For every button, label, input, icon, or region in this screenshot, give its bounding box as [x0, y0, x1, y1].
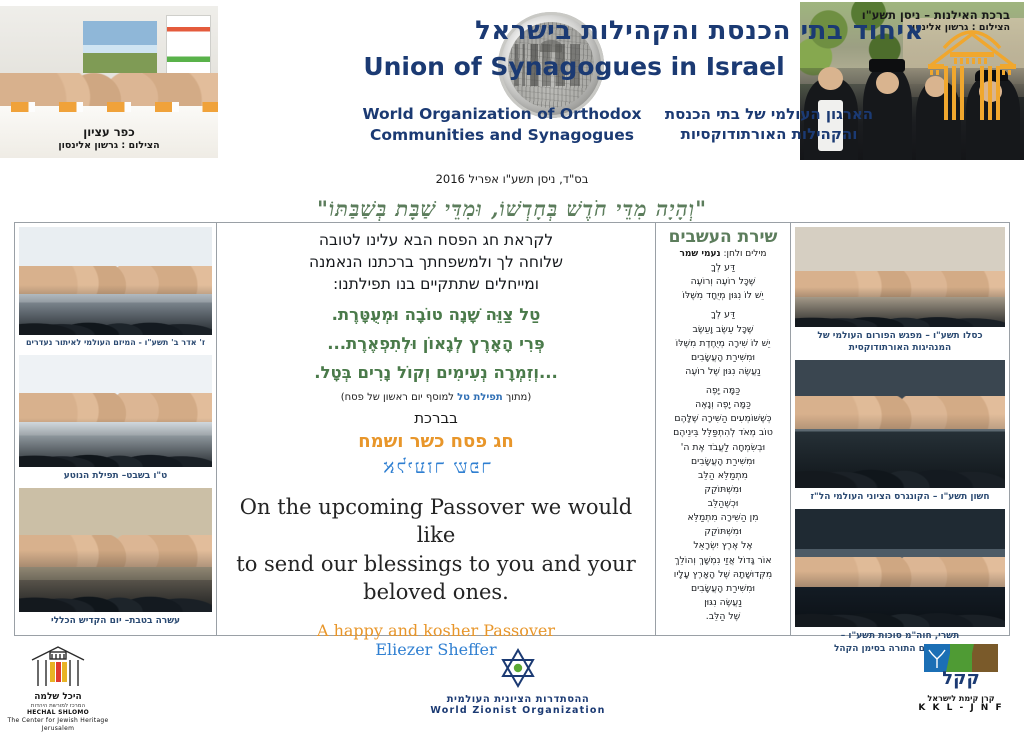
english-line2: to send our blessings to you and your [233, 550, 639, 579]
source-highlight: תפילת טל [457, 392, 503, 403]
caption-line1: חשון תשע"ו – הקונגרס הציוני העולמי הל"ז [810, 492, 989, 502]
photo-card: עשרה בטבת– יום הקדיש הכללי [19, 488, 212, 631]
photo-missing-persons-project [19, 227, 212, 335]
english-happy-passover: A happy and kosher Passover [227, 611, 645, 640]
photo-tu-bishvat-planting [19, 355, 212, 467]
signature-hebrew: אליעזר שפר [227, 454, 645, 487]
greeting-line1: לקראת חג הפסח הבא עלינו לטובה [227, 229, 645, 251]
star-of-david-icon [495, 646, 541, 690]
song-line: אוֹר גָּדוֹל אֲזַי נִמְשָׁךְ וְהוֹלֵךְ [661, 554, 785, 568]
greeting-hebrew: לקראת חג הפסח הבא עלינו לטובה שלוחה לך ו… [227, 229, 645, 295]
hechal-shlomo-name-en: HECHAL SHLOMO [6, 709, 110, 717]
greeting-line3: ומייחלים שתתקיים בנו תפילתנו: [227, 273, 645, 295]
photo-silhouettes [795, 287, 1005, 327]
caption-line1: כסלו תשע"ו – מפגש הפורום העולמי של [817, 331, 982, 341]
caption-line1: ט"ו בשבט– תפילת הנוטע [64, 471, 167, 481]
song-title: שירת העשבים [661, 227, 785, 249]
photo-card: חשון תשע"ו – הקונגרס הציוני העולמי הל"ז [795, 360, 1005, 507]
photo-silhouettes [795, 571, 1005, 628]
song-line: טוֹב מְאֹד לְהִתְפַּלֵּל בֵּינֵיהֶם [661, 426, 785, 440]
photo-silhouettes [19, 418, 212, 467]
song-line: נַעֲשֶׂה נִגּוּן [661, 596, 785, 610]
photo-caption: עשרה בטבת– יום הקדיש הכללי [19, 612, 212, 631]
prayer-line3: ...וְזִמְרָה נְעִימִים וְקוֹל נָרִים בְּ… [227, 359, 645, 388]
photo-caption: חשון תשע"ו – הקונגרס הציוני העולמי הל"ז [795, 488, 1005, 507]
photo-caption: כסלו תשע"ו – מפגש הפורום העולמי של המנהי… [795, 327, 1005, 358]
song-line: מִן הַשִּׁירָה מִתְמַלֵּא [661, 511, 785, 525]
song-credit-label: מילים ולחן: [723, 249, 766, 259]
header-photo-right-caption: כפר עציון הצילום : גרשון אלינסון [0, 125, 218, 152]
song-line: יֵשׁ לוֹ שִׁירָה מְיֻחֶדֶת מִשֶּׁלּוֹ [661, 337, 785, 351]
org-title-hebrew: איחוד בתי הכנסת והקהילות בישראל [504, 16, 924, 46]
photo-card: ז' אדר ב' תשע"ו - המיזם העולמי לאיתור נע… [19, 227, 212, 353]
tal-prayer-quote: טַל צַוֵּה שָׁנָה טוֹבָה וּמְעֻטָּרֶת. פ… [227, 295, 645, 390]
song-line: כַּמָּה יָפֶה [661, 384, 785, 398]
org-subtitle-en-line2: Communities and Synagogues [352, 125, 652, 146]
source-prefix: (מתוך [506, 392, 531, 403]
kkl-name-he: קרן קימת לישראל [905, 694, 1017, 703]
hechal-shlomo-city-en: Jerusalem [6, 725, 110, 733]
svg-text:קקל: קקל [942, 668, 979, 689]
song-line: יֵשׁ לוֹ נִגּוּן מְיֻחָד מִשֶּׁלּוֹ [661, 289, 785, 303]
song-line: כַּמָּה יָפֶה וְנָאֶה [661, 398, 785, 412]
hechal-shlomo-logo: היכל שלמה המרכז למורשת היהדות HECHAL SHL… [6, 644, 110, 733]
song-line: כְּשֶׁשּׁוֹמְעִים הַשִּׁירָה שֶׁלָּהֶם [661, 412, 785, 426]
org-subtitle-english: World Organization of Orthodox Communiti… [352, 104, 652, 146]
song-credit-name: נעמי שמר [679, 249, 720, 259]
photo-silhouettes [19, 285, 212, 335]
hechal-shlomo-name-he: היכל שלמה [6, 692, 110, 703]
song-line: וּמִשְׁתּוֹקֵק [661, 525, 785, 539]
english-line1: On the upcoming Passover we would like [233, 493, 639, 550]
english-line3: beloved ones. [233, 578, 639, 607]
song-line: וּמִשִּׁירַת הָעֲשָׂבִים [661, 351, 785, 365]
photo-backdrop-banner [83, 21, 157, 73]
blessing-word: בברכת [227, 407, 645, 427]
wzo-logo: ההסתדרות הציונית העולמית World Zionist O… [430, 646, 606, 716]
photo-card: ט"ו בשבט– תפילת הנוטע [19, 355, 212, 486]
wzo-name-en: World Zionist Organization [430, 705, 606, 716]
prayer-source-note: (מתוך תפילת טל למוסף יום ראשון של פסח) [227, 390, 645, 407]
chag-greeting: חג פסח כשר ושמח [227, 427, 645, 454]
photo-zionist-congress [795, 360, 1005, 488]
song-line: אֶל אֶרֶץ יִשְׂרָאֵל [661, 539, 785, 553]
caption-credit: הצילום : גרשון אלינסון [8, 140, 210, 152]
hechal-shlomo-building-icon [14, 644, 102, 688]
song-line: וּמִשְׁתּוֹקֵק [661, 483, 785, 497]
song-line: מִתְמַלֵּא הַלֵּב [661, 469, 785, 483]
dateline: בס"ד, ניסן תשע"ו אפריל 2016 [0, 170, 1024, 194]
header-brand-block: איחוד בתי הכנסת והקהילות בישראל Union of… [224, 0, 794, 170]
photo-kaddish-day-kotel [19, 488, 212, 612]
caption-title: כפר עציון [8, 125, 210, 139]
kkl-emblem-icon: קקל [918, 642, 1004, 690]
song-line: דַּע לְךָ [661, 308, 785, 322]
left-photo-column: כסלו תשע"ו – מפגש הפורום העולמי של המנהי… [791, 223, 1009, 635]
greeting-line2: שלוחה לך ולמשפחתך ברכתנו הנאמנה [227, 251, 645, 273]
greeting-column: לקראת חג הפסח הבא עלינו לטובה שלוחה לך ו… [217, 223, 655, 635]
poster-page: ברכת האילנות – ניסן תשע"ו הצילום : גרשון… [0, 0, 1024, 724]
org-subtitle-en-line1: World Organization of Orthodox [352, 104, 652, 125]
photo-table-books [0, 102, 218, 113]
greeting-english: On the upcoming Passover we would like t… [227, 487, 645, 611]
photo-card: כסלו תשע"ו – מפגש הפורום העולמי של המנהי… [795, 227, 1005, 358]
caption-line2: המנהיגות האורתודוקסית [849, 343, 951, 353]
song-line: מִקְּדוּשָׁתָהּ שֶׁל הָאָרֶץ עָלָיו [661, 568, 785, 582]
caption-line1: ז' אדר ב' תשע"ו - המיזם העולמי לאיתור נע… [26, 338, 205, 347]
header-photo-kfar-etzion: כפר עציון הצילום : גרשון אלינסון [0, 6, 218, 158]
song-line: שֶׁכָּל עֵשֶׂב וָעֵשֶׂב [661, 323, 785, 337]
kkl-jnf-logo: קקל קרן קימת לישראל K K L - J N F [905, 642, 1017, 713]
synagogue-pillars-icon [924, 8, 1020, 128]
photo-torah-assembly [795, 509, 1005, 627]
song-line: שֶׁכָּל רוֹעֶה וְרוֹעֶה [661, 275, 785, 289]
prayer-line1: טַל צַוֵּה שָׁנָה טוֹבָה וּמְעֻטָּרֶת. [227, 301, 645, 330]
hechal-shlomo-sub-he: המרכז למורשת היהדות [6, 703, 110, 710]
org-subtitle-he-line2: והקהילות האורתודוקסיות [654, 124, 884, 144]
song-lyrics: דַּע לְךָשֶׁכָּל רוֹעֶה וְרוֹעֶהיֵשׁ לוֹ… [661, 261, 785, 624]
song-line: שֶׁל הַלֵּב. [661, 610, 785, 624]
photo-card: תשרי, חוה"מ סוכות תשע"ו – עצרת עולם התור… [795, 509, 1005, 658]
song-line: וּבְשִׂמְחָה לַעֲבֹד אֶת ה' [661, 441, 785, 455]
photo-forum-meeting [795, 227, 1005, 327]
kkl-name-en: K K L - J N F [905, 703, 1017, 713]
song-line: וּמִשִּׁירַת הָעֲשָׂבִים [661, 455, 785, 469]
prayer-line2: פְּרִי הָאָרֶץ לְגָאוֹן וּלְתִפְאֶרֶת... [227, 330, 645, 359]
wzo-name-he: ההסתדרות הציונית העולמית [430, 694, 606, 705]
poster-header: ברכת האילנות – ניסן תשע"ו הצילום : גרשון… [0, 0, 1024, 170]
photo-silhouettes [19, 550, 212, 612]
song-credit: מילים ולחן: נעמי שמר [661, 249, 785, 261]
song-column: שירת העשבים מילים ולחן: נעמי שמר דַּע לְ… [655, 223, 791, 635]
photo-caption: ט"ו בשבט– תפילת הנוטע [19, 467, 212, 486]
right-photo-column: ז' אדר ב' תשע"ו - המיזם העולמי לאיתור נע… [15, 223, 217, 635]
photo-silhouettes [795, 414, 1005, 488]
song-line: נַעֲשֶׂה נִגּוּן שֶׁל רוֹעֶה [661, 365, 785, 379]
poster-body: כסלו תשע"ו – מפגש הפורום העולמי של המנהי… [14, 222, 1010, 636]
poster-footer: היכל שלמה המרכז למורשת היהדות HECHAL SHL… [0, 640, 1024, 724]
org-subtitle-he-line1: הארגון העולמי של בתי הכנסת [654, 104, 884, 124]
song-line: וּכְשֶׁהַלֵּב [661, 497, 785, 511]
org-subtitle-hebrew: הארגון העולמי של בתי הכנסת והקהילות האור… [654, 104, 884, 145]
caption-line1: עשרה בטבת– יום הקדיש הכללי [51, 616, 180, 626]
org-title-english: Union of Synagogues in Israel [224, 52, 924, 81]
source-suffix: למוסף יום ראשון של פסח) [341, 392, 454, 403]
song-line: דַּע לְךָ [661, 261, 785, 275]
photo-caption: ז' אדר ב' תשע"ו - המיזם העולמי לאיתור נע… [19, 335, 212, 353]
song-line: וּמִשִּׁירַת הָעֲשָׂבִים [661, 582, 785, 596]
